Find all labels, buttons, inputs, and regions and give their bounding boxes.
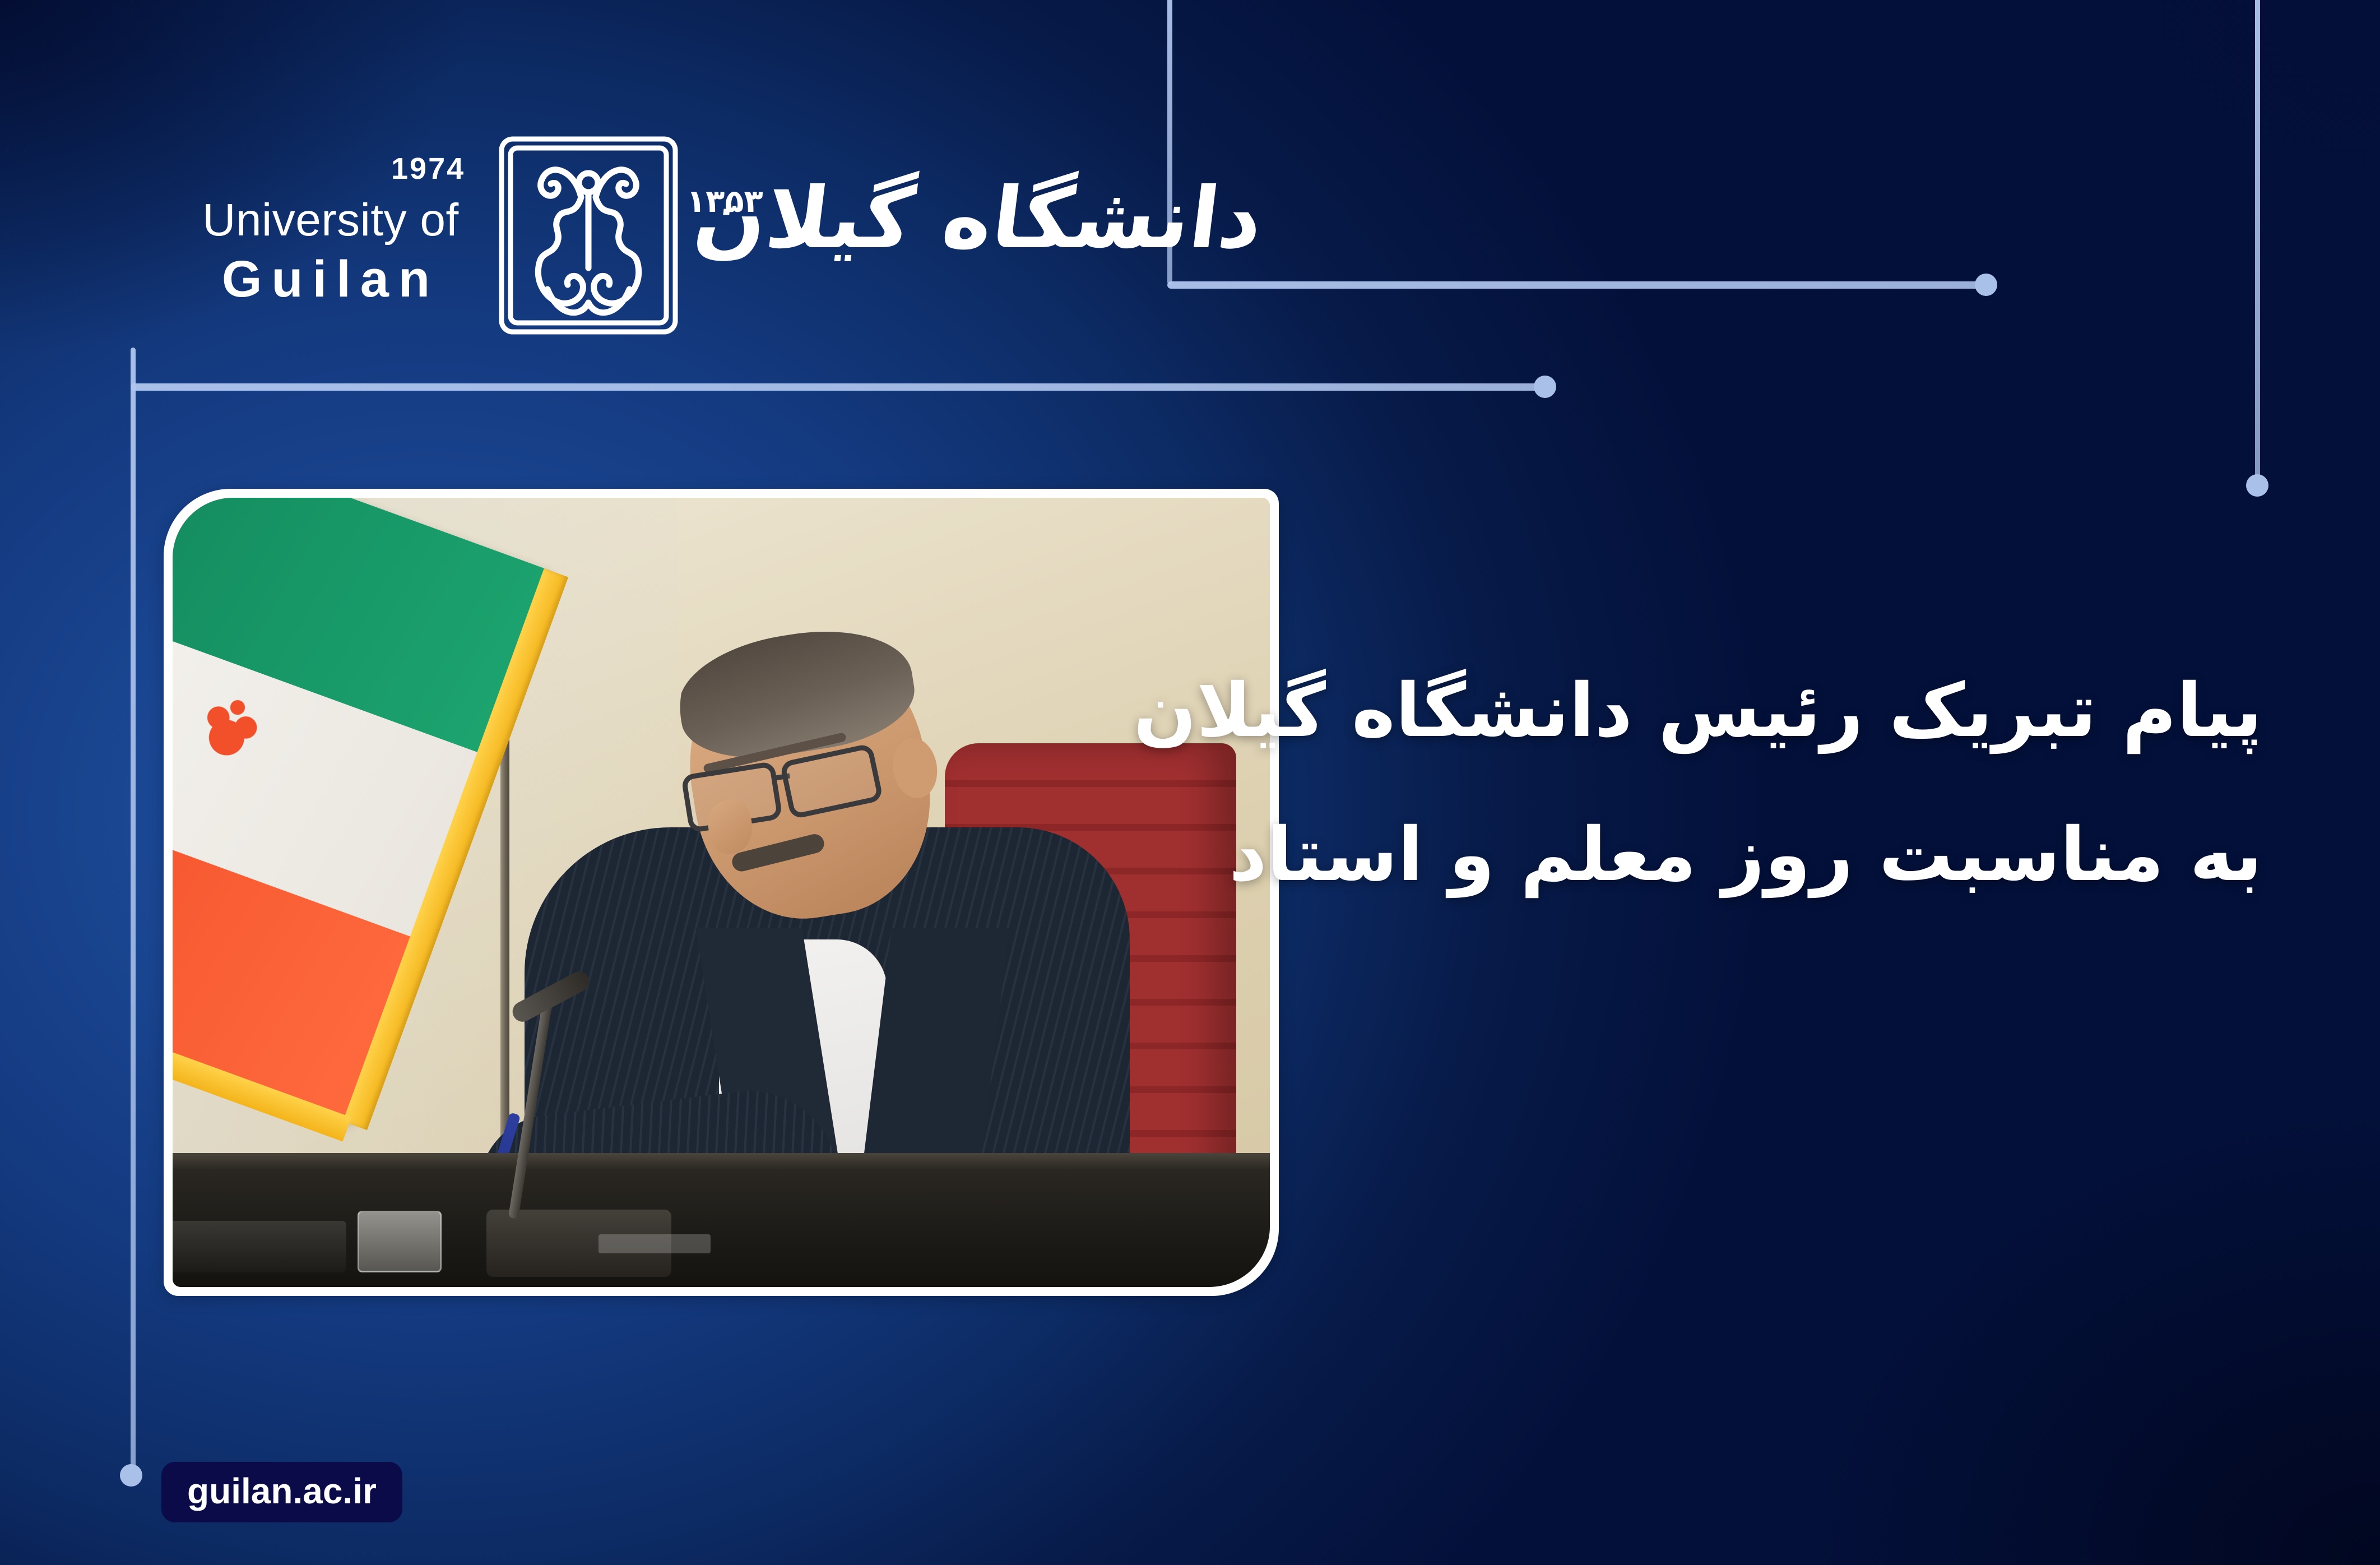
poster-canvas: University of Guilan 1974 [0,0,2380,1565]
desk-edge [173,1153,1270,1169]
water-glass [358,1211,442,1272]
headline: پیام تبریک رئیس دانشگاه گیلان به مناسبت … [1198,639,2262,928]
accent-dot-left-bottom [120,1464,142,1487]
website-url-badge[interactable]: guilan.ac.ir [161,1462,402,1522]
headline-line-1: پیام تبریک رئیس دانشگاه گیلان [1198,639,2262,783]
logo-english-line1: University of [174,196,488,244]
accent-line-left-vertical [131,348,136,1479]
guilan-university-emblem-icon [496,135,681,336]
accent-line-left-horizontal [131,383,1544,391]
desk-nameplate [599,1234,711,1253]
headline-line-2: به مناسبت روز معلم و استاد [1198,783,2262,927]
logo-english-line2: Guilan [174,252,488,307]
logo-year-gregorian: 1974 [391,151,465,186]
logo-persian-name: دانشگاه گیلان [683,118,1144,320]
university-logo[interactable]: University of Guilan 1974 [174,140,1132,364]
accent-dot-top-right [1975,274,1997,296]
accent-dot-left-horizontal-end [1534,376,1556,398]
logo-english-name: University of Guilan [174,196,488,307]
photo-card-frame [164,489,1279,1296]
president-photo [173,498,1270,1287]
accent-dot-right [2246,474,2268,497]
desk-folder [173,1221,346,1272]
accent-line-top-horizontal [1167,281,1987,289]
accent-line-right-vertical [2255,0,2260,478]
